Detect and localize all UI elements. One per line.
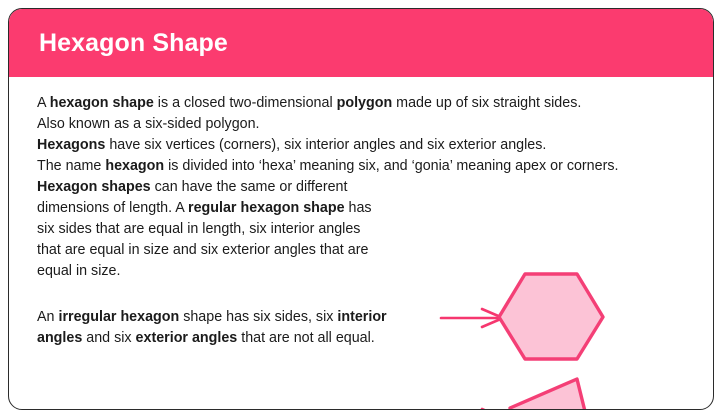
- irregular-hexagon-shape: [510, 379, 595, 410]
- para4-text-b: shape has six sides, six: [179, 309, 337, 325]
- term-hexagons: Hexagons: [37, 137, 105, 153]
- para2-text-b: The name: [37, 158, 105, 174]
- term-interior-angles: interior: [337, 309, 386, 325]
- regular-text-column: Hexagon shapes can have the same or diff…: [37, 177, 437, 282]
- para4-text-a: An: [37, 309, 58, 325]
- para3-text-a: can have the same or different: [151, 179, 348, 195]
- para3-text-b: dimensions of length. A: [37, 200, 188, 216]
- paragraph-properties: Hexagons have six vertices (corners), si…: [37, 135, 687, 177]
- term-hexagon-shapes: Hexagon shapes: [37, 179, 151, 195]
- para1-text-c: made up of six straight sides.: [392, 95, 581, 111]
- paragraph-irregular: An irregular hexagon shape has six sides…: [37, 307, 437, 349]
- term-regular-hexagon-shape: regular hexagon shape: [188, 200, 345, 216]
- para4-text-c: and six: [82, 330, 135, 346]
- para3-text-e: that are equal in size and six exterior …: [37, 242, 368, 258]
- arrow-to-irregular-hexagon: [441, 409, 503, 410]
- para3-text-d: six sides that are equal in length, six …: [37, 221, 360, 237]
- para1-text-d: Also known as a six-sided polygon.: [37, 116, 260, 132]
- term-exterior-angles: exterior angles: [136, 330, 238, 346]
- term-angles: angles: [37, 330, 82, 346]
- para1-text-b: is a closed two-dimensional: [154, 95, 337, 111]
- page-title: Hexagon Shape: [39, 29, 228, 58]
- term-irregular-hexagon: irregular hexagon: [58, 309, 179, 325]
- para3-text-f: equal in size.: [37, 263, 120, 279]
- paragraph-regular: Hexagon shapes can have the same or diff…: [37, 177, 437, 282]
- term-hexagon-shape: hexagon shape: [50, 95, 154, 111]
- para4-text-d: that are not all equal.: [237, 330, 375, 346]
- lesson-card: Hexagon Shape A hexagon shape is a close…: [8, 8, 714, 410]
- irregular-hexagon-section: An irregular hexagon shape has six sides…: [37, 307, 687, 349]
- term-polygon: polygon: [337, 95, 393, 111]
- para1-text-a: A: [37, 95, 50, 111]
- para2-text-c: is divided into ‘hexa’ meaning six, and …: [164, 158, 618, 174]
- para2-text-a: have six vertices (corners), six interio…: [105, 137, 546, 153]
- card-header: Hexagon Shape: [9, 9, 713, 77]
- paragraph-definition: A hexagon shape is a closed two-dimensio…: [37, 93, 687, 135]
- regular-hexagon-section: Hexagon shapes can have the same or diff…: [37, 177, 687, 282]
- irregular-text-column: An irregular hexagon shape has six sides…: [37, 307, 437, 349]
- para3-text-c: has: [345, 200, 372, 216]
- card-body: A hexagon shape is a closed two-dimensio…: [9, 77, 713, 410]
- term-hexagon: hexagon: [105, 158, 164, 174]
